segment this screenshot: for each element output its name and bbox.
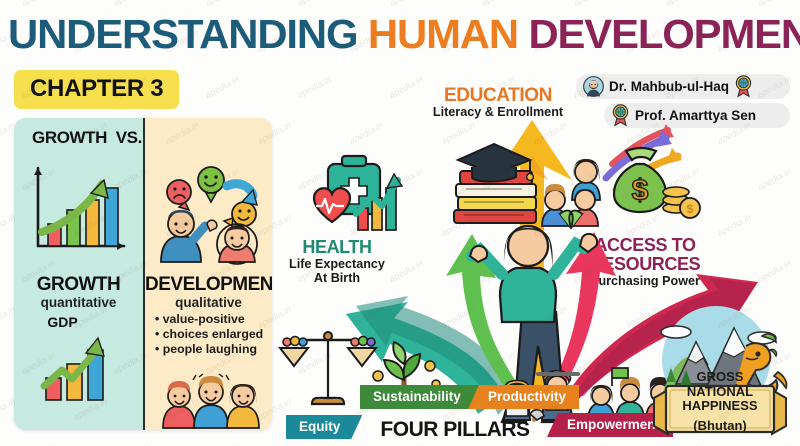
gdp-label: GDP xyxy=(14,314,127,330)
svg-text:$: $ xyxy=(632,174,649,207)
bullet-item: • people laughing xyxy=(155,342,270,357)
page-title: UNDERSTANDING HUMAN DEVELOPMENT xyxy=(8,12,800,56)
watermark-text: apedia.in xyxy=(388,0,425,8)
gnh-line2: NATIONAL xyxy=(650,385,790,400)
watermark-text: apedia.in xyxy=(20,442,57,446)
watermark-text: apedia.in xyxy=(296,0,333,8)
economist-name: Dr. Mahbub-ul-Haq xyxy=(609,79,729,94)
bullet-item: • choices enlarged xyxy=(155,327,270,342)
development-subtitle: qualitative xyxy=(145,295,272,310)
gross-national-happiness-badge: GROSS NATIONAL HAPPINESS (Bhutan) xyxy=(650,302,790,440)
watermark-text: apedia.in xyxy=(756,0,793,8)
watermark-text: apedia.in xyxy=(572,0,609,8)
title-word-understanding: UNDERSTANDING xyxy=(8,11,357,57)
gnh-line1: GROSS xyxy=(650,370,790,385)
watermark-text: apedia.in xyxy=(480,0,517,8)
development-bullets: • value-positive • choices enlarged • pe… xyxy=(155,312,270,357)
gnh-text: GROSS NATIONAL HAPPINESS xyxy=(650,370,790,414)
watermark-text: apedia.in xyxy=(112,0,149,8)
development-title: DEVELOPMENT xyxy=(145,274,272,296)
gdp-bar-chart-icon xyxy=(40,330,120,404)
pillar-ribbon-sustainability: Sustainability xyxy=(360,385,483,409)
growth-vs-development-card: GROWTH VS. DEVELOPMENT GROWTH quantitati… xyxy=(14,118,272,430)
svg-text:$: $ xyxy=(687,202,694,216)
title-word-human: HUMAN xyxy=(368,11,518,57)
watermark-text: apedia.in xyxy=(204,74,241,100)
growth-subtitle: quantitative xyxy=(14,295,143,310)
gnh-country: (Bhutan) xyxy=(650,418,790,433)
watermark-text: apedia.in xyxy=(664,0,701,8)
medal-ribbon-icon xyxy=(734,75,753,98)
bullet-item: • value-positive xyxy=(155,312,270,327)
growth-column: GROWTH VS. DEVELOPMENT GROWTH quantitati… xyxy=(14,118,143,430)
pillar-ribbon-equity: Equity xyxy=(286,415,362,439)
heart-medical-kit-chart-icon xyxy=(314,156,402,230)
growth-title: GROWTH xyxy=(14,274,143,296)
watermark-text: apedia.in xyxy=(112,442,149,446)
development-column: DEVELOPMENT qualitative • value-positive… xyxy=(143,118,272,430)
infographic-root: UNDERSTANDING HUMAN DEVELOPMENT CHAPTER … xyxy=(0,0,800,446)
money-bag-coins-arrows-icon: $ $ xyxy=(606,124,700,218)
chapter-badge: CHAPTER 3 xyxy=(14,70,179,109)
title-word-development: DEVELOPMENT xyxy=(528,11,800,57)
watermark-text: apedia.in xyxy=(204,442,241,446)
watermark-text: apedia.in xyxy=(20,0,57,8)
gnh-line3: HAPPINESS xyxy=(650,399,790,414)
bar-chart-up-icon xyxy=(26,162,130,258)
four-pillars-caption: FOUR PILLARS xyxy=(370,418,540,442)
happy-people-icon xyxy=(149,162,269,262)
pillar-ribbon-productivity: Productivity xyxy=(468,385,579,409)
watermark-text: apedia.in xyxy=(204,0,241,8)
three-friends-icon xyxy=(161,362,261,428)
